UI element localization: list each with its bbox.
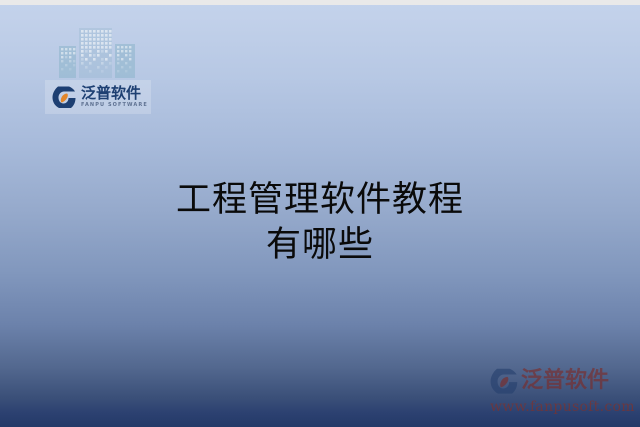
fanpu-swoosh-icon [52, 85, 77, 110]
logo-wordmark: 泛普软件 FANPU SOFTWARE [81, 86, 148, 108]
page-title: 工程管理软件教程 有哪些 [0, 178, 640, 268]
watermark-url: www.fanpusoft.com [490, 399, 632, 415]
watermark: 泛普软件 www.fanpusoft.com [490, 365, 632, 421]
watermark-logo: 泛普软件 [490, 365, 632, 397]
pixel-skyline-icon [59, 22, 145, 78]
company-logo: 泛普软件 FANPU SOFTWARE [45, 80, 151, 114]
brand-block: 泛普软件 FANPU SOFTWARE [45, 22, 151, 120]
top-band [0, 0, 640, 5]
logo-name-cn: 泛普软件 [81, 86, 148, 101]
fanpu-swoosh-icon [490, 367, 519, 396]
slide-canvas: 泛普软件 FANPU SOFTWARE 工程管理软件教程 有哪些 泛普软件 ww… [0, 0, 640, 427]
watermark-name-cn: 泛普软件 [521, 370, 609, 392]
logo-name-en: FANPU SOFTWARE [81, 103, 148, 108]
